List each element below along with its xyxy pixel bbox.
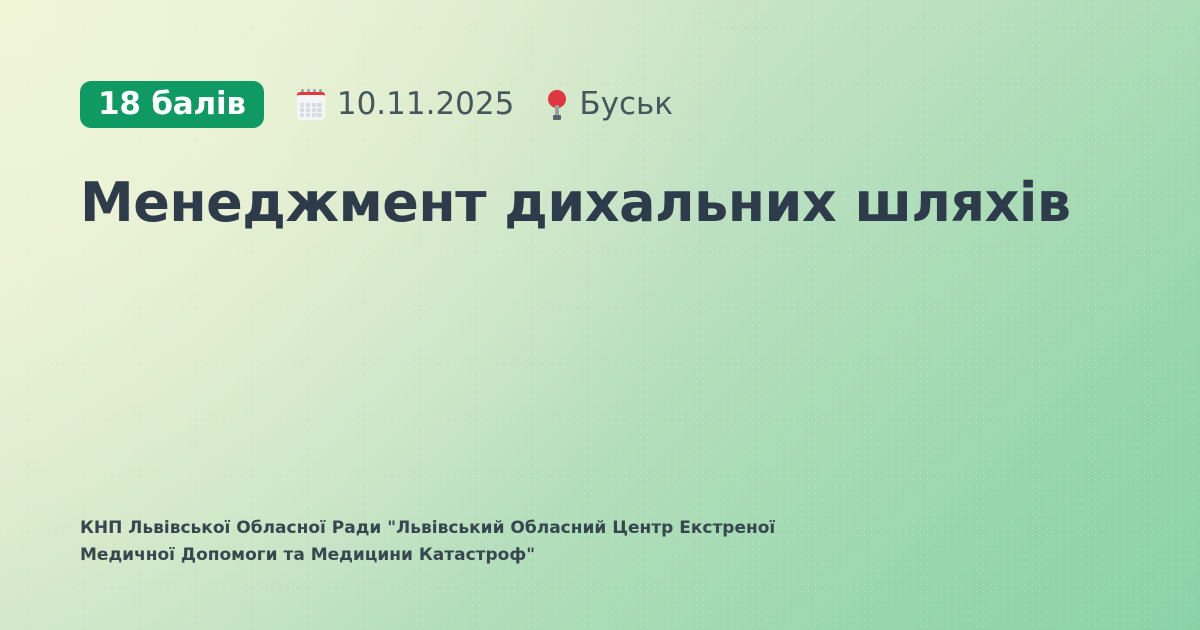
points-badge: 18 балів [80,81,264,128]
card-content: 18 балів 10.11.2025 [0,0,1200,630]
layout-spacer [80,235,1120,516]
meta-row: 18 балів 10.11.2025 [80,81,1120,128]
event-date: 10.11.2025 [296,89,515,120]
event-date-value: 10.11.2025 [337,89,515,120]
organization-line-1: КНП Львівської Обласної Ради "Львівський… [80,515,910,541]
event-location: Буськ [546,89,673,121]
location-pin-icon [546,89,568,121]
title-wrap: Менеджмент дихальних шляхів [80,172,1120,235]
event-share-card: 18 балів 10.11.2025 [0,0,1200,630]
event-title: Менеджмент дихальних шляхів [80,172,1080,235]
event-location-value: Буськ [579,89,673,120]
calendar-icon [296,89,326,120]
organization-footer: КНП Львівської Обласної Ради "Львівський… [80,515,910,568]
organization-line-2: Медичної Допомоги та Медицини Катастроф" [80,542,910,568]
